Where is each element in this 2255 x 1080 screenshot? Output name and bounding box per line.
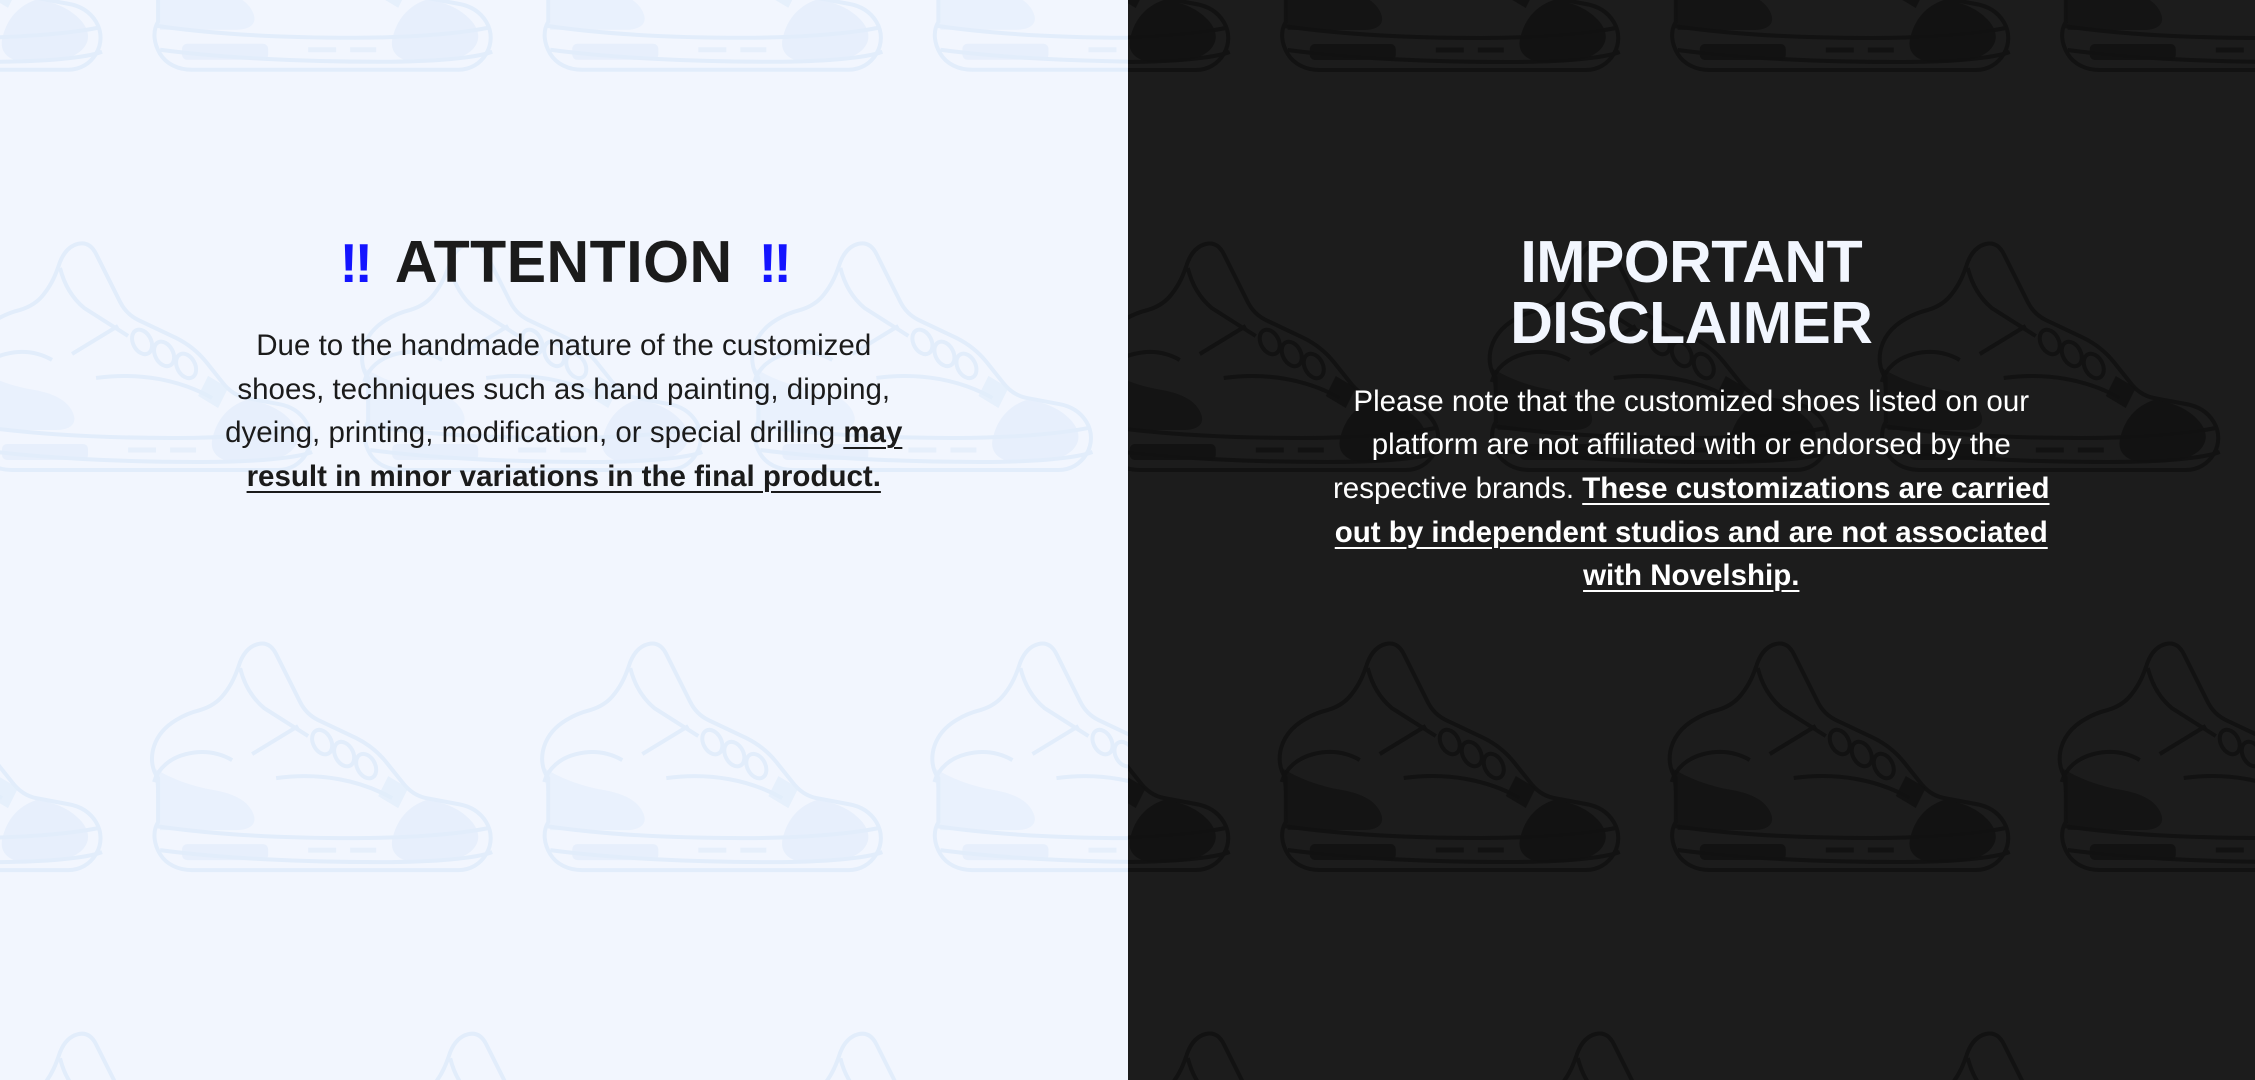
disclaimer-heading-line2: DISCLAIMER <box>1510 290 1872 356</box>
disclaimer-panel: IMPORTANTDISCLAIMER Please note that the… <box>1128 0 2255 1080</box>
disclaimer-heading: IMPORTANTDISCLAIMER <box>1510 232 1872 354</box>
disclaimer-heading-line1: IMPORTANT <box>1520 229 1862 295</box>
attention-body: Due to the handmade nature of the custom… <box>214 324 914 499</box>
disclaimer-content: IMPORTANTDISCLAIMER Please note that the… <box>1128 0 2255 1080</box>
double-exclamation-left-icon: ‼ <box>340 236 369 291</box>
attention-body-normal: Due to the handmade nature of the custom… <box>225 329 890 449</box>
double-exclamation-right-icon: ‼ <box>759 236 788 291</box>
attention-content: ‼ ATTENTION ‼ Due to the handmade nature… <box>0 0 1128 1080</box>
disclaimer-body: Please note that the customized shoes li… <box>1331 380 2051 598</box>
disclaimer-banner: ‼ ATTENTION ‼ Due to the handmade nature… <box>0 0 2255 1080</box>
attention-panel: ‼ ATTENTION ‼ Due to the handmade nature… <box>0 0 1128 1080</box>
attention-heading: ‼ ATTENTION ‼ <box>340 232 788 292</box>
attention-heading-text: ATTENTION <box>395 232 733 292</box>
